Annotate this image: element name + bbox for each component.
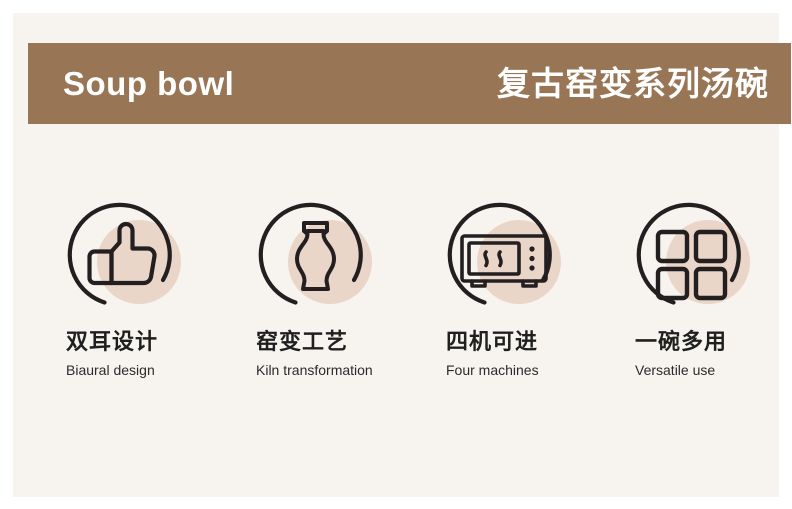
header-title-chinese: 复古窑变系列汤碗 — [497, 67, 769, 100]
header-title-english: Soup bowl — [63, 67, 234, 100]
icon-container — [252, 190, 378, 310]
feature-label-chinese: 四机可进 — [446, 328, 586, 356]
feature-labels: 窑变工艺 Kiln transformation — [256, 328, 395, 380]
header-banner: Soup bowl 复古窑变系列汤碗 — [28, 43, 791, 124]
icon-container — [441, 190, 567, 310]
feature-label-english: Biaural design — [66, 361, 204, 381]
feature-labels: 双耳设计 Biaural design — [66, 328, 204, 380]
feature-label-english: Kiln transformation — [256, 361, 395, 381]
microwave-icon — [441, 190, 567, 310]
vase-icon — [252, 190, 378, 310]
feature-item-versatile-use: 一碗多用 Versatile use — [586, 190, 777, 380]
feature-item-kiln-transformation: 窑变工艺 Kiln transformation — [204, 190, 395, 380]
feature-labels: 一碗多用 Versatile use — [635, 328, 777, 380]
feature-label-chinese: 双耳设计 — [66, 328, 204, 356]
four-squares-grid-icon — [630, 190, 756, 310]
feature-label-chinese: 一碗多用 — [635, 328, 777, 356]
feature-item-four-machines: 四机可进 Four machines — [395, 190, 586, 380]
thumbs-up-icon — [61, 190, 187, 310]
feature-label-english: Versatile use — [635, 361, 777, 381]
feature-labels: 四机可进 Four machines — [446, 328, 586, 380]
product-detail-page: Soup bowl 复古窑变系列汤碗 双耳设计 Biaural design — [0, 0, 792, 509]
icon-container — [630, 190, 756, 310]
feature-label-chinese: 窑变工艺 — [256, 328, 395, 356]
icon-container — [61, 190, 187, 310]
feature-item-biaural-design: 双耳设计 Biaural design — [13, 190, 204, 380]
feature-list: 双耳设计 Biaural design 窑变工艺 Kiln transforma… — [13, 190, 779, 380]
feature-label-english: Four machines — [446, 361, 586, 381]
